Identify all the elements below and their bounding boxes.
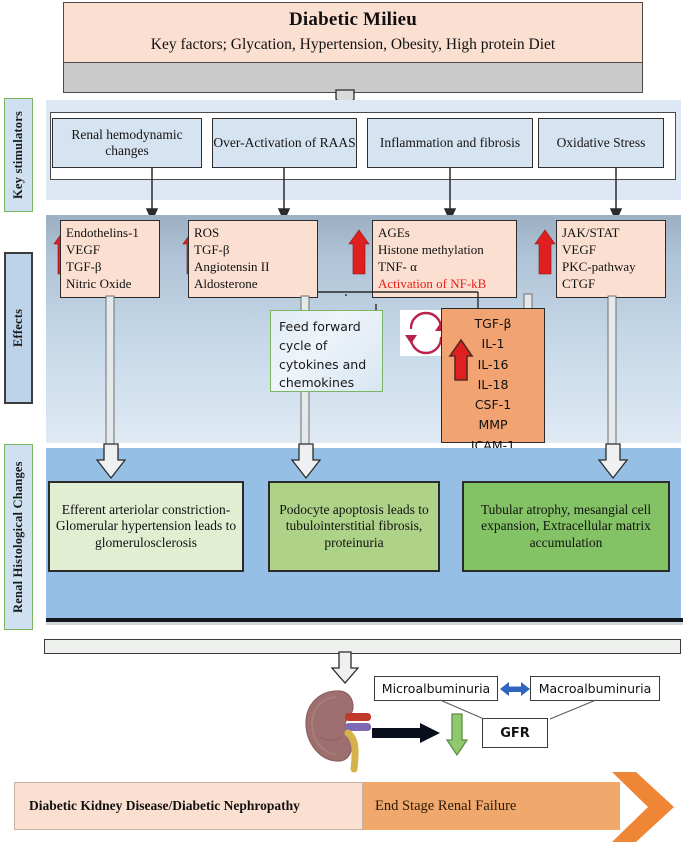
effect-item: Endothelins-1: [66, 225, 154, 242]
side-label-renal-histological-changes: Renal Histological Changes: [4, 444, 33, 630]
arrow-to-outcome: [330, 652, 360, 684]
gfr-connector-lines: [374, 700, 664, 722]
histological-box-podocyte-apoptosis[interactable]: Podocyte apoptosis leads to tubulointers…: [268, 481, 440, 572]
histological-label: Podocyte apoptosis leads to tubulointers…: [274, 502, 434, 551]
stimulator-label: Oxidative Stress: [557, 135, 646, 151]
effect-box-raas[interactable]: ROS TGF-β Angiotensin II Aldosterone: [188, 220, 318, 298]
page-title: Diabetic Milieu: [64, 9, 642, 31]
stimulator-label: Over-Activation of RAAS: [213, 135, 355, 151]
effect-item: Histone methylation: [378, 242, 511, 259]
cytokine-item: TGF-β: [442, 314, 544, 334]
histological-label: Tubular atrophy, mesangial cell expansio…: [468, 502, 664, 551]
effect-item: TNF- α: [378, 259, 511, 276]
microalbuminuria-label: Microalbuminuria: [382, 681, 490, 696]
header-gray-bar: [63, 63, 643, 93]
histological-box-tubular-atrophy[interactable]: Tubular atrophy, mesangial cell expansio…: [462, 481, 670, 572]
effect-box-hemodynamic[interactable]: Endothelins-1 VEGF TGF-β Nitric Oxide: [60, 220, 160, 298]
effect-item: TGF-β: [194, 242, 312, 259]
stimulator-box-over-activation-raas[interactable]: Over-Activation of RAAS: [212, 118, 357, 168]
green-down-arrow-icon: [446, 714, 468, 756]
cytokine-item: MMP: [442, 415, 544, 435]
side-label-effects: Effects: [4, 252, 33, 404]
cytokine-item: CSF-1: [442, 395, 544, 415]
transition-thin-bar: [44, 639, 681, 654]
effect-item: VEGF: [66, 242, 154, 259]
footer-left-label: Diabetic Kidney Disease/Diabetic Nephrop…: [29, 798, 300, 814]
macroalbuminuria-box[interactable]: Macroalbuminuria: [530, 676, 660, 701]
side-label-text: Renal Histological Changes: [11, 461, 26, 613]
footer-end-stage-renal-failure[interactable]: End Stage Renal Failure: [363, 782, 620, 830]
stimulator-box-renal-hemodynamic-changes[interactable]: Renal hemodynamic changes: [52, 118, 202, 168]
effect-item: JAK/STAT: [562, 225, 660, 242]
orange-chevron-arrow-icon: [612, 768, 682, 846]
effect-item: TGF-β: [66, 259, 154, 276]
side-label-text: Key stimulators: [11, 111, 26, 199]
feed-forward-cycle-box[interactable]: Feed forward cycle of cytokines and chem…: [270, 310, 383, 392]
gfr-box[interactable]: GFR: [482, 718, 548, 748]
diabetic-milieu-header: Diabetic Milieu Key factors; Glycation, …: [63, 2, 643, 63]
effect-item: VEGF: [562, 242, 660, 259]
effect-item: AGEs: [378, 225, 511, 242]
histological-box-glomerulosclerosis[interactable]: Efferent arteriolar constriction- Glomer…: [48, 481, 244, 572]
stimulator-label: Inflammation and fibrosis: [380, 135, 520, 151]
histological-label: Efferent arteriolar constriction- Glomer…: [54, 502, 238, 551]
effect-item: ROS: [194, 225, 312, 242]
page-subtitle: Key factors; Glycation, Hypertension, Ob…: [64, 36, 642, 54]
effect-item: PKC-pathway: [562, 259, 660, 276]
stimulator-label: Renal hemodynamic changes: [53, 127, 201, 159]
gfr-label: GFR: [500, 726, 530, 741]
side-label-text: Effects: [11, 309, 26, 347]
histological-band-shadow: [46, 622, 683, 625]
footer-diabetic-kidney-disease[interactable]: Diabetic Kidney Disease/Diabetic Nephrop…: [14, 782, 363, 830]
footer-right-label: End Stage Renal Failure: [375, 798, 516, 815]
stimulator-box-inflammation-fibrosis[interactable]: Inflammation and fibrosis: [367, 118, 533, 168]
effect-box-oxidative[interactable]: JAK/STAT VEGF PKC-pathway CTGF: [556, 220, 666, 298]
arrows-effects-to-histological: [46, 444, 681, 480]
effect-item: Nitric Oxide: [66, 276, 154, 293]
black-right-arrow-icon: [372, 722, 440, 744]
connector-arrows-stimulators-to-effects: [46, 168, 681, 220]
effect-item: Angiotensin II: [194, 259, 312, 276]
side-label-key-stimulators: Key stimulators: [4, 98, 33, 212]
effect-item: Aldosterone: [194, 276, 312, 293]
stimulator-box-oxidative-stress[interactable]: Oxidative Stress: [538, 118, 664, 168]
double-headed-blue-arrow-icon: [500, 680, 530, 698]
effect-item: CTGF: [562, 276, 660, 293]
feed-forward-label: Feed forward cycle of cytokines and chem…: [279, 319, 366, 390]
microalbuminuria-box[interactable]: Microalbuminuria: [374, 676, 498, 701]
cytokine-red-up-arrow: [448, 338, 474, 382]
macroalbuminuria-label: Macroalbuminuria: [539, 681, 652, 696]
